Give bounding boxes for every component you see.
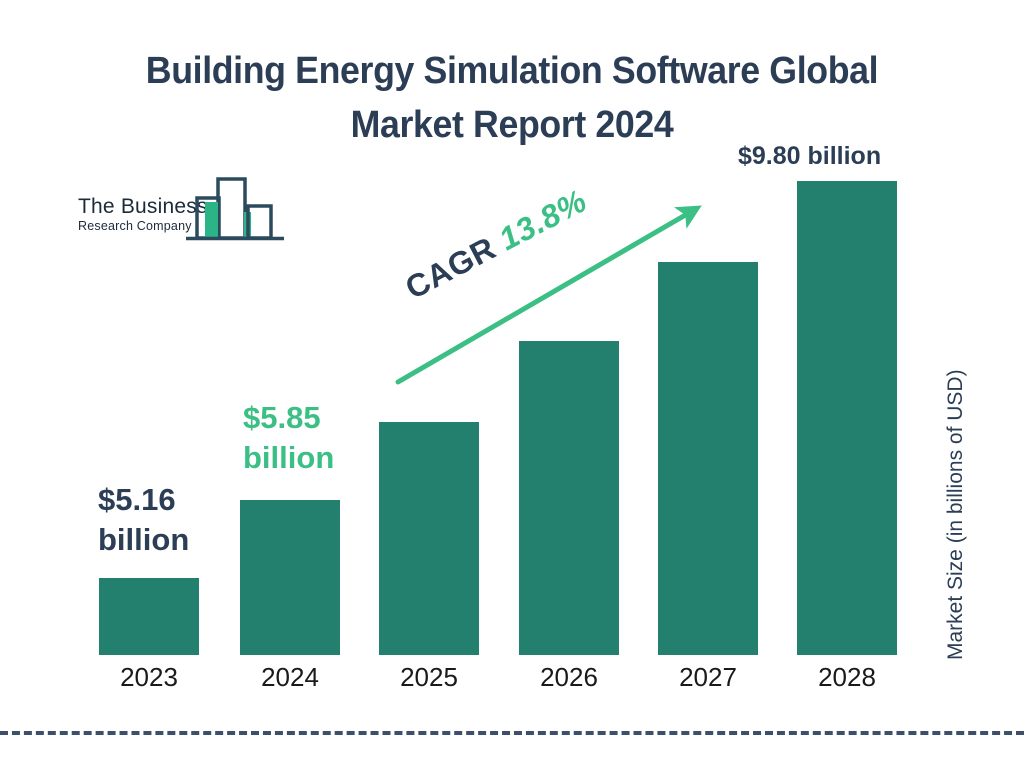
xtick-2023: 2023: [79, 662, 219, 693]
value-label-2024: $5.85 billion: [243, 398, 334, 478]
xtick-2028: 2028: [777, 662, 917, 693]
xtick-2025: 2025: [359, 662, 499, 693]
bar-2024: [240, 500, 340, 655]
xtick-2026: 2026: [499, 662, 639, 693]
chart-canvas: Building Energy Simulation Software Glob…: [0, 0, 1024, 768]
xtick-2027: 2027: [638, 662, 778, 693]
value-label-2028: $9.80 billion: [738, 140, 881, 172]
plot-area: [0, 0, 1024, 768]
footer-divider: [0, 731, 1024, 735]
bar-2026: [519, 341, 619, 655]
bar-2025: [379, 422, 479, 655]
bar-2023: [99, 578, 199, 655]
xtick-2024: 2024: [220, 662, 360, 693]
value-label-2023: $5.16 billion: [98, 480, 189, 560]
y-axis-title: Market Size (in billions of USD): [944, 280, 968, 660]
bar-2027: [658, 262, 758, 655]
bar-2028: [797, 181, 897, 655]
